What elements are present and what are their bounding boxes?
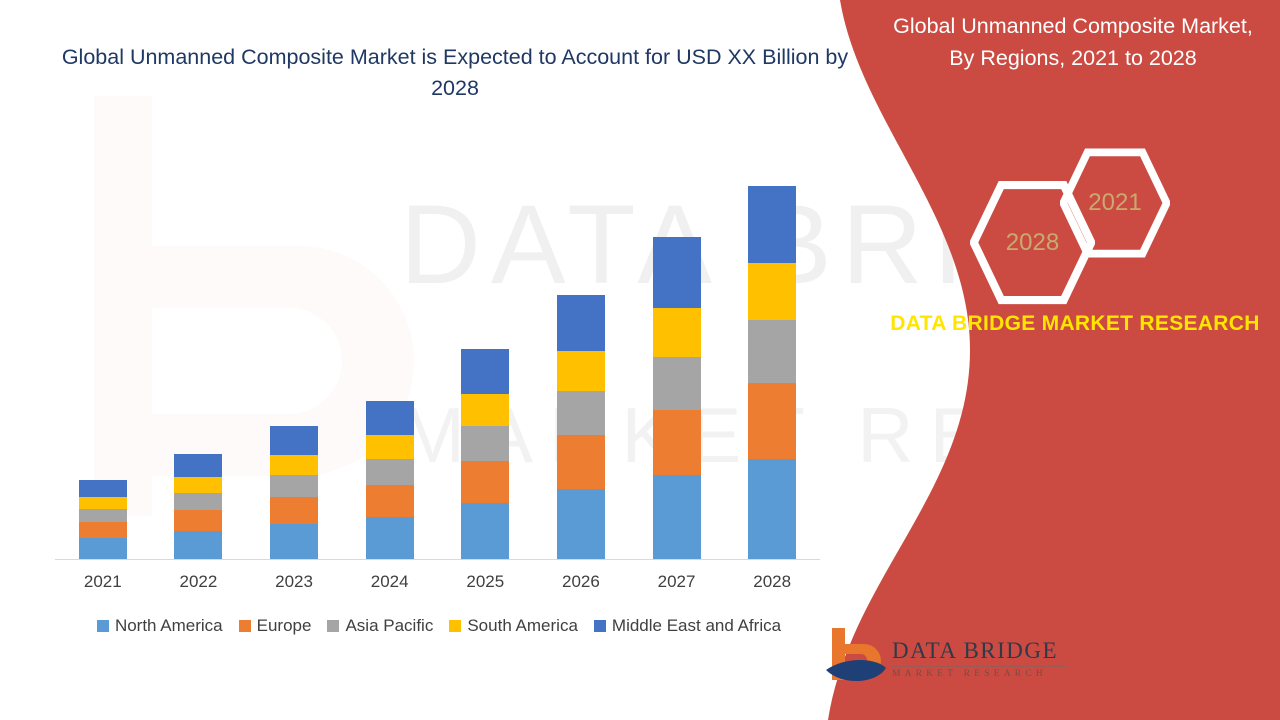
- bar-segment[interactable]: [557, 391, 605, 435]
- x-axis-label: 2023: [246, 572, 342, 592]
- bar-segment[interactable]: [748, 186, 796, 263]
- bar-segment[interactable]: [79, 538, 127, 559]
- bar-segment[interactable]: [79, 522, 127, 538]
- legend-label: South America: [467, 616, 578, 636]
- bar-slot: [55, 159, 151, 559]
- legend-item[interactable]: North America: [97, 616, 223, 636]
- legend-swatch-icon: [239, 620, 251, 632]
- legend-swatch-icon: [327, 620, 339, 632]
- slide-canvas: DATA BRIDGE MARKET RESEARCH Global Unman…: [0, 0, 1280, 720]
- bar-segment[interactable]: [270, 426, 318, 455]
- bar-segment[interactable]: [557, 295, 605, 350]
- legend-item[interactable]: Middle East and Africa: [594, 616, 781, 636]
- stacked-bar[interactable]: [79, 480, 127, 559]
- legend-label: Europe: [257, 616, 312, 636]
- bar-segment[interactable]: [748, 320, 796, 383]
- bar-segment[interactable]: [461, 461, 509, 503]
- bar-segment[interactable]: [270, 455, 318, 475]
- bar-segment[interactable]: [557, 435, 605, 489]
- legend-swatch-icon: [97, 620, 109, 632]
- bar-slot: [533, 159, 629, 559]
- bar-segment[interactable]: [79, 509, 127, 522]
- bar-segment[interactable]: [461, 426, 509, 461]
- bar-segment[interactable]: [653, 357, 701, 410]
- bar-segment[interactable]: [79, 497, 127, 509]
- bar-slot: [246, 159, 342, 559]
- bar-segment[interactable]: [653, 475, 701, 559]
- legend-label: Asia Pacific: [345, 616, 433, 636]
- x-axis-label: 2028: [724, 572, 820, 592]
- page-title: Global Unmanned Composite Market is Expe…: [60, 42, 850, 104]
- legend-swatch-icon: [449, 620, 461, 632]
- logo-divider: [892, 666, 1067, 667]
- stacked-bar[interactable]: [748, 186, 796, 559]
- bar-segment[interactable]: [748, 459, 796, 559]
- stacked-bar[interactable]: [557, 295, 605, 559]
- bar-segment[interactable]: [366, 459, 414, 485]
- bar-segment[interactable]: [557, 351, 605, 391]
- bar-segment[interactable]: [748, 383, 796, 459]
- stacked-bar[interactable]: [461, 349, 509, 559]
- hexagon-group: 2021 2028: [960, 148, 1180, 293]
- legend-swatch-icon: [594, 620, 606, 632]
- bar-segment[interactable]: [461, 394, 509, 426]
- bar-segment[interactable]: [366, 435, 414, 459]
- bar-segment[interactable]: [461, 349, 509, 394]
- bar-segment[interactable]: [366, 485, 414, 517]
- legend-label: North America: [115, 616, 223, 636]
- bar-segment[interactable]: [270, 497, 318, 524]
- bar-slot: [342, 159, 438, 559]
- x-axis-label: 2027: [629, 572, 725, 592]
- bar-segment[interactable]: [557, 489, 605, 559]
- company-logo: DATA BRIDGE MARKET RESEARCH: [820, 622, 1070, 702]
- x-axis-label: 2026: [533, 572, 629, 592]
- brand-panel: Global Unmanned Composite Market, By Reg…: [810, 0, 1280, 720]
- bar-group: [55, 159, 820, 559]
- panel-title: Global Unmanned Composite Market, By Reg…: [888, 10, 1258, 74]
- stacked-bar[interactable]: [653, 237, 701, 559]
- logo-secondary-text: MARKET RESEARCH: [892, 669, 1067, 679]
- x-axis-label: 2021: [55, 572, 151, 592]
- bar-slot: [724, 159, 820, 559]
- x-axis-label: 2024: [342, 572, 438, 592]
- bar-segment[interactable]: [174, 531, 222, 559]
- bar-segment[interactable]: [366, 401, 414, 435]
- legend-item[interactable]: South America: [449, 616, 578, 636]
- stacked-bar[interactable]: [270, 426, 318, 559]
- bar-segment[interactable]: [174, 493, 222, 510]
- x-axis-label: 2025: [438, 572, 534, 592]
- bar-segment[interactable]: [461, 503, 509, 559]
- bar-segment[interactable]: [174, 477, 222, 493]
- bar-segment[interactable]: [270, 524, 318, 559]
- brand-name: DATA BRIDGE MARKET RESEARCH: [890, 308, 1260, 340]
- bar-segment[interactable]: [270, 475, 318, 497]
- legend-item[interactable]: Asia Pacific: [327, 616, 433, 636]
- bar-slot: [438, 159, 534, 559]
- logo-primary-text: DATA BRIDGE: [892, 638, 1067, 664]
- bar-segment[interactable]: [653, 410, 701, 475]
- bar-segment[interactable]: [366, 517, 414, 559]
- bar-segment[interactable]: [748, 263, 796, 320]
- stacked-bar[interactable]: [366, 401, 414, 559]
- chart-legend: North AmericaEuropeAsia PacificSouth Ame…: [55, 616, 823, 636]
- bar-segment[interactable]: [79, 480, 127, 497]
- bar-segment[interactable]: [653, 237, 701, 308]
- chart-plot-area: [55, 150, 820, 560]
- bar-slot: [151, 159, 247, 559]
- bar-segment[interactable]: [174, 454, 222, 477]
- hexagon-2028: 2028: [970, 180, 1095, 305]
- bar-segment[interactable]: [653, 308, 701, 357]
- stacked-bar[interactable]: [174, 454, 222, 559]
- hexagon-2028-label: 2028: [970, 180, 1095, 305]
- legend-item[interactable]: Europe: [239, 616, 312, 636]
- logo-wordmark: DATA BRIDGE MARKET RESEARCH: [892, 638, 1067, 679]
- x-axis-labels: 20212022202320242025202620272028: [55, 572, 820, 592]
- x-axis-label: 2022: [151, 572, 247, 592]
- logo-mark-icon: [820, 622, 890, 692]
- bar-segment[interactable]: [174, 510, 222, 531]
- x-axis-line: [55, 559, 820, 560]
- legend-label: Middle East and Africa: [612, 616, 781, 636]
- bar-slot: [629, 159, 725, 559]
